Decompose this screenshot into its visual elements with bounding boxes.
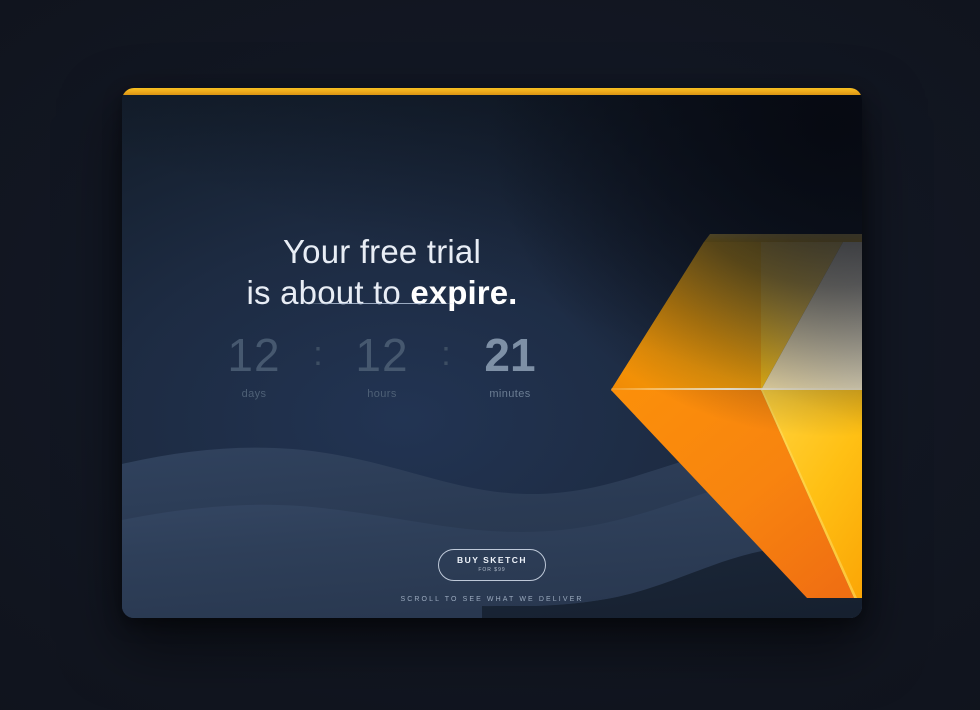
headline-accent-word: expire. (410, 274, 517, 311)
buy-sketch-button-label: BUY SKETCH (457, 556, 527, 565)
headline-line-2-prefix: is about to (247, 274, 411, 311)
page-canvas: Your free trial is about to expire. 12da… (0, 0, 980, 710)
page-title: Your free trial is about to expire. (122, 232, 642, 314)
cta-section: BUY SKETCH FOR $99 SCROLL TO SEE WHAT WE… (122, 549, 862, 603)
headline-line-1: Your free trial (122, 232, 642, 273)
countdown-label-days: days (202, 388, 306, 400)
buy-sketch-button-price: FOR $99 (457, 568, 527, 573)
window-top-accent-bar (122, 88, 862, 95)
headline-line-2: is about to expire. (122, 273, 642, 314)
countdown-label-minutes: minutes (458, 388, 562, 400)
headline-divider (306, 303, 458, 304)
gem-facet-crown-table (704, 234, 862, 242)
countdown-unit-hours: 12hours (330, 332, 434, 400)
countdown-unit-minutes: 21minutes (458, 332, 562, 400)
countdown-separator: : (434, 332, 458, 378)
countdown-value-minutes: 21 (458, 332, 562, 378)
site-viewport: Your free trial is about to expire. 12da… (122, 94, 862, 618)
countdown-value-hours: 12 (330, 332, 434, 378)
gem-girdle-highlight (611, 388, 862, 391)
gem-facet-crown-right (761, 242, 862, 390)
browser-window: Your free trial is about to expire. 12da… (122, 88, 862, 618)
countdown-unit-days: 12days (202, 332, 306, 400)
countdown-timer: 12days:12hours:21minutes (122, 332, 642, 400)
scroll-hint-text: SCROLL TO SEE WHAT WE DELIVER (122, 596, 862, 603)
countdown-label-hours: hours (330, 388, 434, 400)
gem-facet-crown-center (761, 242, 843, 390)
countdown-separator: : (306, 332, 330, 378)
buy-sketch-button[interactable]: BUY SKETCH FOR $99 (438, 549, 546, 581)
countdown-value-days: 12 (202, 332, 306, 378)
